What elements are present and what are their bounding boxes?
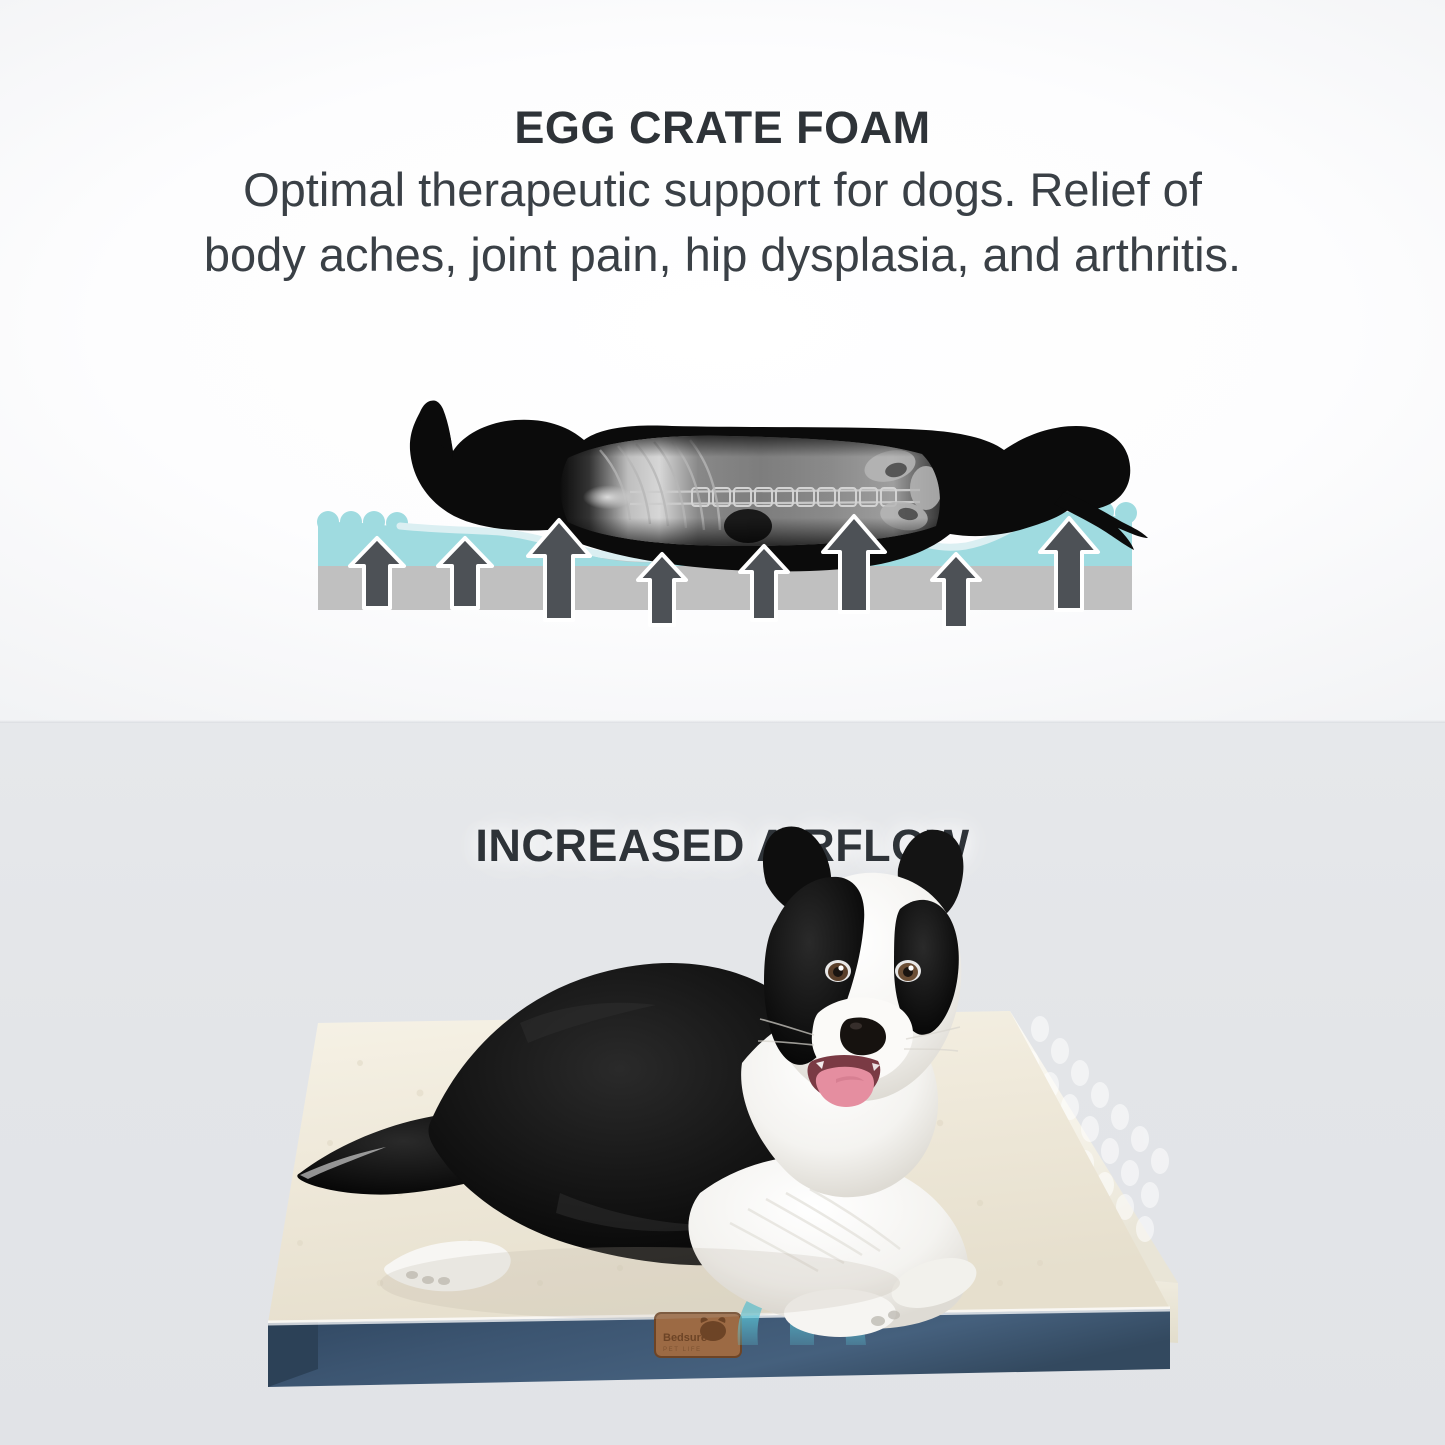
product-infographic: EGG CRATE FOAM Optimal therapeutic suppo…	[0, 0, 1445, 1445]
subtitle-line-2: body aches, joint pain, hip dysplasia, a…	[50, 223, 1395, 288]
subtitle-egg-crate-foam: Optimal therapeutic support for dogs. Re…	[50, 158, 1395, 288]
xray-overlay	[558, 430, 948, 552]
subtitle-line-1: Optimal therapeutic support for dogs. Re…	[50, 158, 1395, 223]
logo-tagline-text: PET LIFE	[663, 1347, 702, 1353]
product-photo-dog-on-bed: Bedsure PET LIFE	[0, 723, 1445, 1445]
panel-egg-crate-foam: EGG CRATE FOAM Optimal therapeutic suppo…	[0, 0, 1445, 723]
dog-contact-shadow	[380, 1247, 900, 1319]
brand-logo-patch: Bedsure PET LIFE	[655, 1313, 741, 1357]
logo-brand-text: Bedsure	[663, 1332, 707, 1344]
page-title-egg-crate-foam: EGG CRATE FOAM	[0, 102, 1445, 154]
pressure-support-diagram	[300, 380, 1150, 640]
